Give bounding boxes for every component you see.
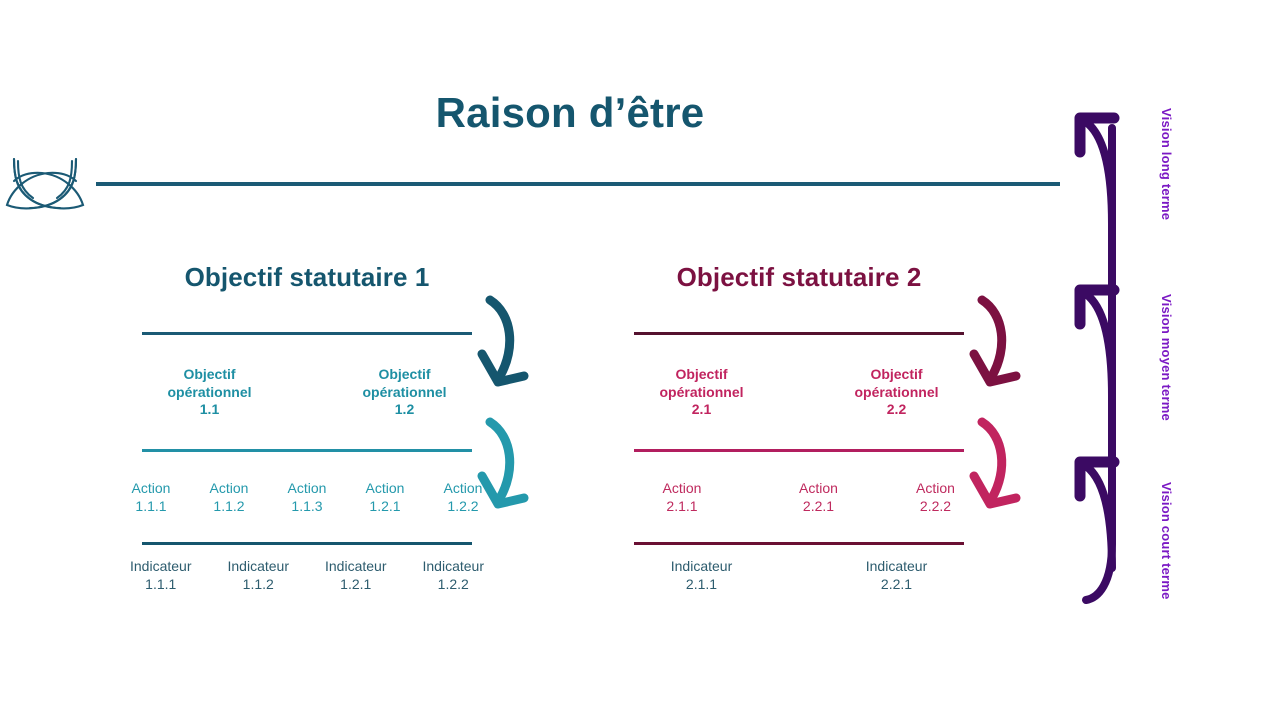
action-item[interactable]: Action 2.1.1: [604, 480, 760, 515]
column-objectif-statutaire-2: Objectif statutaire 2 Objectif opération…: [604, 262, 994, 607]
column-divider-bottom: [634, 542, 964, 545]
vision-label-long-terme: Vision long terme: [1140, 108, 1174, 278]
operational-objective[interactable]: Objectif opérationnel 2.1: [604, 366, 799, 419]
indicators-row: Indicateur 1.1.1 Indicateur 1.1.2 Indica…: [112, 558, 502, 593]
page-title: Raison d’être: [0, 89, 1140, 137]
operational-objective[interactable]: Objectif opérationnel 1.1: [112, 366, 307, 419]
action-item[interactable]: Action 1.1.3: [268, 480, 346, 515]
indicator-item[interactable]: Indicateur 1.2.2: [405, 558, 503, 593]
actions-row: Action 1.1.1 Action 1.1.2 Action 1.1.3 A…: [112, 480, 502, 515]
column-title: Objectif statutaire 2: [604, 262, 994, 293]
operational-objectives-row: Objectif opérationnel 1.1 Objectif opéra…: [112, 366, 502, 419]
leaf-right-decoration: [0, 155, 90, 220]
indicator-item[interactable]: Indicateur 2.1.1: [604, 558, 799, 593]
column-title: Objectif statutaire 1: [112, 262, 502, 293]
actions-row: Action 2.1.1 Action 2.2.1 Action 2.2.2: [604, 480, 994, 515]
indicator-item[interactable]: Indicateur 1.2.1: [307, 558, 405, 593]
indicator-item[interactable]: Indicateur 1.1.1: [112, 558, 210, 593]
vision-labels: Vision long terme Vision moyen terme Vis…: [1140, 104, 1174, 620]
operational-objectives-row: Objectif opérationnel 2.1 Objectif opéra…: [604, 366, 994, 419]
column-divider-top: [142, 332, 472, 335]
action-item[interactable]: Action 1.2.1: [346, 480, 424, 515]
vision-label-court-terme: Vision court terme: [1140, 482, 1174, 657]
action-item[interactable]: Action 2.2.1: [760, 480, 877, 515]
action-item[interactable]: Action 1.1.1: [112, 480, 190, 515]
column-objectif-statutaire-1: Objectif statutaire 1 Objectif opération…: [112, 262, 502, 607]
column-divider-bottom: [142, 542, 472, 545]
column-divider-top: [634, 332, 964, 335]
indicator-item[interactable]: Indicateur 2.2.1: [799, 558, 994, 593]
vision-label-moyen-terme: Vision moyen terme: [1140, 294, 1174, 469]
column-divider-middle: [634, 449, 964, 452]
indicators-row: Indicateur 2.1.1 Indicateur 2.2.1: [604, 558, 994, 593]
action-item[interactable]: Action 1.1.2: [190, 480, 268, 515]
vision-bracket: [1072, 104, 1128, 612]
curved-down-left-arrow-icon: [964, 414, 1024, 524]
curved-down-left-arrow-icon: [472, 414, 532, 524]
curved-down-left-arrow-icon: [964, 292, 1024, 402]
diagram-canvas: Raison d’être Objectif statutaire 1 Obje…: [0, 0, 1280, 720]
column-divider-middle: [142, 449, 472, 452]
curved-down-left-arrow-icon: [472, 292, 532, 402]
indicator-item[interactable]: Indicateur 1.1.2: [210, 558, 308, 593]
master-divider: [96, 182, 1060, 186]
